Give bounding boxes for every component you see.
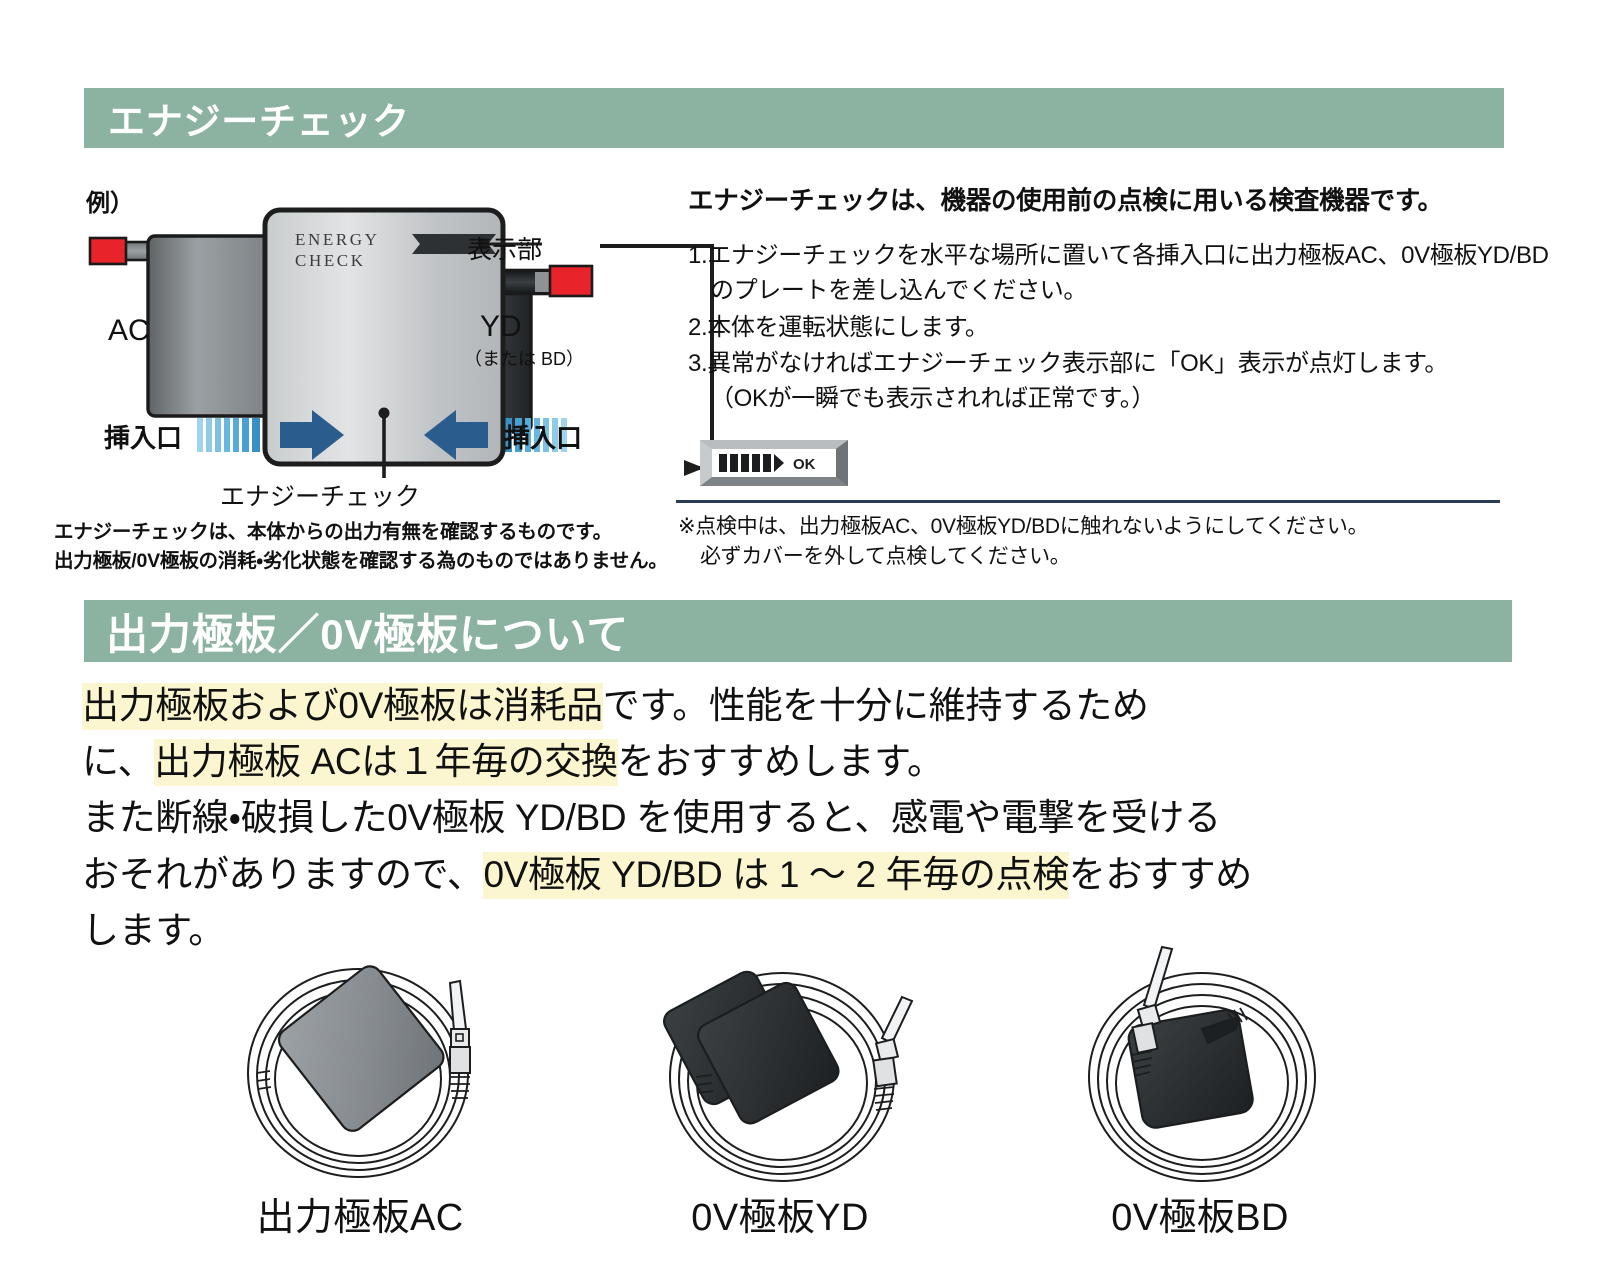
diagram-caption-line2: 出力極板/0V極板の消耗・劣化状態を確認する為のものではありません。	[54, 547, 668, 576]
product-item-ac: 出力極板AC	[180, 925, 540, 1265]
body-copy-text: おそれがありますので、	[82, 854, 483, 895]
product-item-yd: 0V極板YD	[600, 925, 960, 1265]
instructions-column: エナジーチェックは、機器の使用前の点検に用いる検査機器です。 1.エナジーチェッ…	[688, 180, 1518, 419]
label-insertion-port-left: 挿入口	[104, 418, 182, 455]
body-copy-line: また断線・破損した0V極板 YD/BD を使用すると、感電や電撃を受ける	[82, 790, 1502, 846]
section-header-plates: 出力極板／0V極板について	[84, 600, 1512, 662]
plate-yd-photo	[600, 925, 960, 1190]
label-insertion-port-right: 挿入口	[504, 418, 582, 455]
body-copy-highlight: 出力極板 ACは１年毎の交換	[154, 739, 618, 786]
body-copy-text: また断線・破損した0V極板 YD/BD を使用すると、感電や電撃を受ける	[82, 797, 1221, 838]
ok-display-indicator: OK	[700, 440, 848, 486]
label-device-name: エナジーチェック	[220, 477, 420, 513]
instruction-step: 2.本体を運転状態にします。	[688, 311, 1518, 346]
body-copy-text: です。性能を十分に維持するため	[603, 685, 1149, 726]
device-brand-line1: ENERGY	[295, 230, 380, 249]
body-copy-text: に、	[82, 741, 154, 782]
safety-note-line1: ※点検中は、出力極板AC、0V極板YD/BDに触れないようにしてください。	[678, 515, 1368, 538]
product-item-bd: 0V極板BD	[1020, 925, 1380, 1265]
safety-note: ※点検中は、出力極板AC、0V極板YD/BDに触れないようにしてください。 必ず…	[678, 512, 1368, 573]
label-yd: YD	[480, 310, 522, 344]
product-art-ac	[180, 925, 540, 1190]
product-art-bd	[1020, 925, 1380, 1190]
body-copy-line: おそれがありますので、0V極板 YD/BD は 1 ～ 2 年毎の点検をおすすめ	[82, 847, 1502, 903]
instruction-step-main: 1.エナジーチェックを水平な場所に置いて各挿入口に出力極板AC、0V極板YD/B…	[688, 239, 1518, 274]
energy-check-device-diagram: ENERGY CHECK 表示部 AC YD （または BD） 挿入口 挿入口 …	[80, 190, 680, 510]
note-divider-rule	[676, 500, 1500, 503]
plate-bd-photo	[1020, 925, 1380, 1190]
product-gallery: 出力極板AC	[180, 925, 1380, 1265]
instructions-heading: エナジーチェックは、機器の使用前の点検に用いる検査機器です。	[688, 180, 1518, 217]
plate-yd-tip-red	[550, 266, 592, 296]
instruction-step-main: 2.本体を運転状態にします。	[688, 311, 1518, 346]
ok-display-text: OK	[793, 456, 816, 473]
label-yd-sub: （または BD）	[464, 345, 584, 371]
instruction-step: 3.異常がなければエナジーチェック表示部に「OK」表示が点灯します。 （OKが一…	[688, 347, 1518, 417]
instruction-step: 1.エナジーチェックを水平な場所に置いて各挿入口に出力極板AC、0V極板YD/B…	[688, 239, 1518, 309]
label-display-part: 表示部	[467, 230, 542, 266]
body-copy-line: 出力極板および0V極板は消耗品です。性能を十分に維持するため	[82, 678, 1502, 734]
instructions-steps-list: 1.エナジーチェックを水平な場所に置いて各挿入口に出力極板AC、0V極板YD/B…	[688, 239, 1518, 417]
ok-display-graphic: OK	[700, 440, 848, 486]
product-label-bd: 0V極板BD	[1020, 1186, 1380, 1241]
section-header-title: エナジーチェック	[108, 91, 410, 145]
body-copy-text: をおすすめ	[1069, 854, 1252, 895]
instruction-step-sub: のプレートを差し込んでください。	[688, 274, 1518, 309]
safety-note-line2: 必ずカバーを外して点検してください。	[678, 542, 1368, 572]
body-copy-line: に、出力極板 ACは１年毎の交換をおすすめします。	[82, 734, 1502, 790]
plate-ac-photo	[180, 925, 540, 1190]
plate-ac-tip-red	[90, 238, 126, 264]
label-ac: AC	[108, 314, 150, 348]
instruction-step-main: 3.異常がなければエナジーチェック表示部に「OK」表示が点灯します。	[688, 347, 1518, 382]
product-art-yd	[600, 925, 960, 1190]
section-header-energy-check: エナジーチェック	[84, 88, 1504, 148]
instruction-step-sub: （OKが一瞬でも表示されれば正常です。）	[688, 382, 1518, 417]
diagram-caption: エナジーチェックは、本体からの出力有無を確認するものです。 出力極板/0V極板の…	[54, 518, 668, 577]
body-copy-highlight: 0V極板 YD/BD は 1 ～ 2 年毎の点検	[483, 852, 1068, 899]
product-label-yd: 0V極板YD	[600, 1186, 960, 1241]
device-brand-line2: CHECK	[295, 251, 366, 270]
body-copy-text: をおすすめします。	[618, 741, 944, 782]
device-illustration: ENERGY CHECK	[80, 190, 680, 510]
diagram-caption-line1: エナジーチェックは、本体からの出力有無を確認するものです。	[54, 518, 668, 547]
plates-body-copy: 出力極板および0V極板は消耗品です。性能を十分に維持するために、出力極板 ACは…	[82, 678, 1502, 959]
product-label-ac: 出力極板AC	[180, 1186, 540, 1241]
body-copy-highlight: 出力極板および0V極板は消耗品	[82, 683, 603, 730]
section-header-title: 出力極板／0V極板について	[106, 601, 629, 662]
